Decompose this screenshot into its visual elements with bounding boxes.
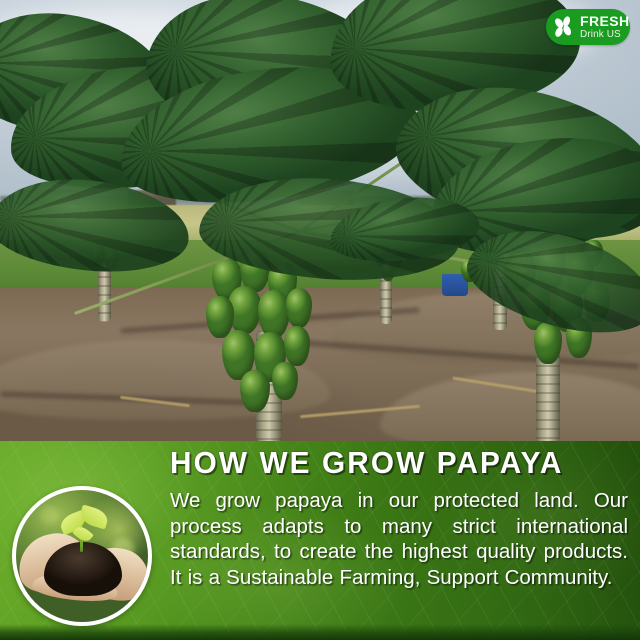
logo-line-2: Drink US [580,30,629,40]
band-bottom-shade [0,624,640,640]
papaya-fruit [272,362,298,400]
body-paragraph: We grow papaya in our protected land. Ou… [170,488,628,590]
band-text-block: HOW WE GROW PAPAYA We grow papaya in our… [170,447,628,590]
poster-root: FRESH Drink US HOW WE GROW PAPAYA We gro… [0,0,640,640]
papaya-fruit [240,370,270,412]
papaya-orchard-photo: FRESH Drink US [0,0,640,441]
bokeh-light [40,506,58,524]
papaya-fruit [284,326,310,366]
logo-wordmark: FRESH Drink US [580,14,629,40]
logo-line-1: FRESH [580,14,629,28]
page-title: HOW WE GROW PAPAYA [170,447,610,478]
papaya-fruit [258,290,290,338]
hands-holding-seedling-photo [12,486,152,626]
sprout-leaf [78,504,110,529]
fresh-drink-us-logo[interactable]: FRESH Drink US [546,9,630,45]
papaya-fruit [534,322,562,364]
leaf-icon [553,15,575,39]
papaya-fruit [286,288,312,328]
